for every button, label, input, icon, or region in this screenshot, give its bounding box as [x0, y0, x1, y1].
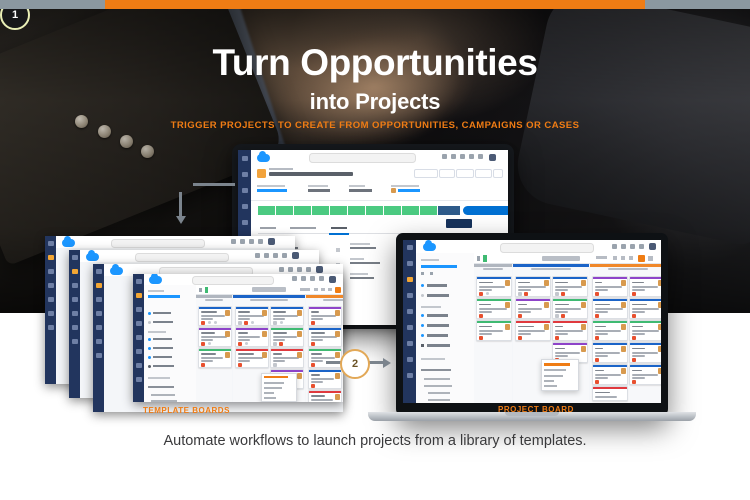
sidebar-item-dashboard[interactable] [427, 344, 450, 347]
rail-team-icon[interactable] [136, 335, 142, 340]
stage-step[interactable] [366, 206, 383, 215]
card-assignee-avatar[interactable] [544, 280, 549, 286]
card-action-icon[interactable] [214, 321, 217, 324]
sidebar-item-my-work[interactable] [153, 312, 171, 314]
sidebar-item-timesheet[interactable] [153, 321, 173, 323]
sidebar-item-initiatives[interactable] [153, 356, 172, 358]
board-search-input[interactable] [135, 253, 229, 262]
rail-settings-icon[interactable] [407, 325, 413, 330]
card-assignee-avatar[interactable] [505, 280, 510, 286]
favorites-icon[interactable] [442, 154, 447, 159]
card-assignee-avatar[interactable] [335, 352, 340, 358]
card-title [201, 353, 216, 355]
card-attachment-icon[interactable] [555, 314, 559, 318]
card-date [632, 355, 645, 357]
card-priority-badge [201, 321, 205, 325]
sidebar-expand-icon[interactable] [421, 272, 424, 275]
kanban-card[interactable] [270, 306, 304, 326]
project-board-search-input[interactable] [500, 243, 594, 253]
kanban-card[interactable] [592, 386, 628, 401]
board-search-input[interactable] [111, 239, 205, 248]
card-accent [271, 370, 303, 372]
setup-gear-icon[interactable] [273, 253, 278, 258]
card-priority-badge [595, 336, 599, 340]
clone-button[interactable] [475, 169, 492, 178]
apps-icon[interactable] [292, 276, 297, 281]
stage-step-closed[interactable] [438, 206, 460, 215]
kanban-card[interactable] [592, 276, 628, 297]
board-share-icon[interactable] [629, 256, 633, 260]
card-assignee-avatar[interactable] [297, 352, 302, 358]
card-assignee-avatar[interactable] [225, 310, 230, 316]
change-closed-stage-button[interactable] [463, 206, 508, 215]
card-assignee-avatar[interactable] [505, 324, 510, 330]
edit-button[interactable] [439, 169, 455, 178]
sidebar-bullet-icon [421, 294, 424, 297]
sidebar-section-all-projects[interactable] [421, 358, 445, 360]
card-assignee-avatar[interactable] [658, 346, 662, 352]
tab-activity[interactable] [260, 227, 276, 229]
rail-chart-icon[interactable] [407, 341, 413, 346]
setup-gear-icon[interactable] [249, 239, 254, 244]
card-assignee-avatar[interactable] [262, 310, 267, 316]
rail-team-icon[interactable] [407, 309, 413, 314]
card-assignee-avatar[interactable] [658, 368, 662, 374]
rail-home-icon[interactable] [242, 172, 248, 177]
rail-chart-icon[interactable] [48, 325, 54, 330]
kanban-card[interactable] [235, 348, 269, 368]
card-assignee-avatar[interactable] [544, 302, 549, 308]
opportunity-search-input[interactable] [309, 153, 416, 163]
sidebar-item-brand-project[interactable] [428, 399, 450, 401]
kanban-card[interactable] [235, 306, 269, 326]
user-avatar[interactable] [268, 238, 275, 245]
kanban-card[interactable] [308, 369, 342, 389]
board-status-indicator [205, 287, 208, 293]
rail-projects-icon[interactable] [72, 269, 78, 274]
sidebar-item-timesheet[interactable] [427, 294, 449, 297]
kanban-card[interactable] [308, 348, 342, 368]
board-sidebar[interactable] [144, 285, 197, 402]
rail-menu-icon[interactable] [48, 241, 54, 246]
rail-settings-icon[interactable] [96, 339, 102, 344]
card-assignee-avatar[interactable] [505, 302, 510, 308]
rail-menu-icon[interactable] [242, 156, 248, 161]
kanban-card[interactable] [552, 298, 588, 319]
board-collapse-icon[interactable] [199, 288, 202, 292]
card-assignee-avatar[interactable] [581, 302, 586, 308]
sidebar-dropdown-menu[interactable] [261, 373, 297, 402]
card-assignee-avatar[interactable] [335, 331, 340, 337]
rail-menu-icon[interactable] [96, 269, 102, 274]
board-nav-rail[interactable] [45, 236, 56, 384]
help-icon[interactable] [460, 154, 465, 159]
card-desc [201, 315, 225, 317]
kanban-card[interactable] [592, 320, 628, 341]
kanban-card[interactable] [629, 298, 661, 319]
field-account-name-value[interactable] [257, 189, 287, 192]
rail-home-icon[interactable] [96, 297, 102, 302]
kanban-column-backlog [474, 264, 512, 403]
rail-menu-icon[interactable] [407, 245, 413, 250]
card-priority-badge [238, 342, 242, 346]
sidebar-item-b2b-production[interactable] [424, 385, 452, 387]
template-board-window-front[interactable] [133, 274, 343, 402]
board-view-kanban-button[interactable] [638, 255, 645, 262]
card-assignee-avatar[interactable] [335, 394, 340, 400]
notifications-icon[interactable] [258, 239, 263, 244]
kanban-card[interactable] [552, 276, 588, 297]
card-accent [309, 328, 341, 330]
column-accent [474, 264, 512, 267]
board-filter-button[interactable] [300, 288, 310, 291]
board-star-icon[interactable] [613, 256, 617, 260]
card-assignee-avatar[interactable] [621, 280, 626, 286]
kanban-card[interactable] [592, 342, 628, 363]
card-attachment-icon[interactable] [273, 363, 277, 367]
dropdown-item-templates[interactable] [544, 363, 570, 366]
card-assignee-avatar[interactable] [581, 280, 586, 286]
card-desc [273, 315, 298, 317]
kanban-card[interactable] [552, 320, 588, 341]
user-avatar[interactable] [292, 252, 299, 259]
board-nav-rail[interactable] [133, 274, 144, 402]
kanban-card[interactable] [629, 320, 661, 341]
rail-team-icon[interactable] [48, 297, 54, 302]
board-nav-rail[interactable] [93, 264, 104, 412]
card-assignee-avatar[interactable] [262, 352, 267, 358]
dropdown-item-templates[interactable] [264, 376, 288, 378]
notifications-icon[interactable] [639, 244, 644, 249]
kanban-card[interactable] [198, 348, 232, 368]
stage-step[interactable] [258, 206, 275, 215]
detail-edit-pencil-icon[interactable] [336, 248, 340, 252]
apps-icon[interactable] [255, 253, 260, 258]
rail-settings-icon[interactable] [48, 311, 54, 316]
rail-home-icon[interactable] [48, 269, 54, 274]
card-accent [271, 349, 303, 351]
card-attachment-icon[interactable] [518, 292, 522, 296]
dropdown-item-move[interactable] [544, 380, 554, 382]
card-accent [593, 387, 627, 389]
sidebar-item-media-project[interactable] [428, 392, 450, 394]
sidebar-item-my-project[interactable] [153, 347, 173, 349]
sidebar-item-my-work[interactable] [427, 284, 447, 287]
kanban-card[interactable] [198, 327, 232, 347]
card-assignee-avatar[interactable] [544, 324, 549, 330]
card-title [479, 304, 491, 306]
card-attachment-icon[interactable] [555, 292, 559, 296]
sidebar-item-b2b-marketing[interactable] [424, 378, 450, 380]
help-icon[interactable] [288, 267, 293, 272]
card-assignee-avatar[interactable] [297, 373, 302, 379]
board-search-input[interactable] [192, 276, 274, 285]
card-priority-badge [311, 321, 315, 325]
kanban-column-sprint-progress [306, 295, 343, 402]
sidebar-bullet-icon [148, 338, 151, 341]
card-assignee-avatar[interactable] [658, 280, 662, 286]
rail-home-icon[interactable] [407, 261, 413, 266]
card-assignee-avatar[interactable] [581, 346, 586, 352]
card-assignee-avatar[interactable] [335, 310, 340, 316]
dropdown-item-new-project[interactable] [544, 375, 563, 377]
sidebar-section-my-assignments[interactable] [421, 369, 451, 371]
setup-gear-icon[interactable] [297, 267, 302, 272]
help-icon[interactable] [621, 244, 626, 249]
kanban-card[interactable] [270, 348, 304, 368]
follow-button[interactable] [414, 169, 438, 178]
card-accent [593, 343, 627, 345]
user-avatar[interactable] [329, 276, 336, 283]
help-icon[interactable] [301, 276, 306, 281]
column-header [476, 268, 510, 272]
card-priority-badge [632, 358, 636, 362]
rail-reports-icon[interactable] [407, 293, 413, 298]
project-sidebar-dropdown-menu[interactable] [541, 359, 579, 391]
rail-projects-icon[interactable] [96, 283, 102, 288]
kanban-card[interactable] [308, 327, 342, 347]
detail-field-value [350, 247, 376, 249]
dropdown-item-delete[interactable] [264, 397, 276, 399]
card-date [518, 333, 531, 335]
card-accent [553, 343, 587, 345]
card-desc [479, 286, 505, 288]
card-title [479, 282, 493, 284]
card-assignee-avatar[interactable] [297, 310, 302, 316]
delete-button[interactable] [456, 169, 474, 178]
rail-home-icon[interactable] [72, 283, 78, 288]
user-avatar[interactable] [649, 243, 656, 250]
sidebar-section-all-projects[interactable] [148, 377, 170, 379]
card-action-icon[interactable] [245, 342, 248, 345]
card-assignee-avatar[interactable] [335, 373, 340, 379]
card-assignee-avatar[interactable] [621, 346, 626, 352]
kanban-card[interactable] [515, 320, 551, 341]
stage-step[interactable] [384, 206, 401, 215]
stage-step[interactable] [294, 206, 311, 215]
kanban-card[interactable] [270, 327, 304, 347]
help-icon[interactable] [240, 239, 245, 244]
kanban-card[interactable] [476, 276, 512, 297]
stage-step[interactable] [276, 206, 293, 215]
sidebar-section-my-assignments[interactable] [148, 386, 174, 388]
card-assignee-avatar[interactable] [658, 302, 662, 308]
rail-add-icon[interactable] [242, 204, 248, 209]
card-action-icon[interactable] [486, 292, 489, 295]
apps-icon[interactable] [451, 154, 456, 159]
card-desc [518, 308, 542, 310]
rail-projects-icon[interactable] [48, 255, 54, 260]
rail-reports-icon[interactable] [48, 283, 54, 288]
notifications-icon[interactable] [282, 253, 287, 258]
stage-step[interactable] [402, 206, 419, 215]
card-title [479, 326, 492, 328]
card-attachment-icon[interactable] [273, 321, 277, 325]
board-clock-icon[interactable] [621, 256, 625, 260]
rail-settings-icon[interactable] [136, 349, 142, 354]
board-view-kanban-button[interactable] [335, 287, 341, 293]
card-action-icon[interactable] [280, 321, 283, 324]
sidebar-item-initiatives[interactable] [427, 334, 448, 337]
sidebar-item-b2b-marketing[interactable] [151, 394, 175, 396]
kanban-card[interactable] [235, 327, 269, 347]
card-assignee-avatar[interactable] [658, 324, 662, 330]
kanban-card[interactable] [629, 364, 661, 385]
card-assignee-avatar[interactable] [225, 352, 230, 358]
rail-chart-icon[interactable] [136, 363, 142, 368]
card-priority-badge [479, 292, 483, 296]
setup-gear-icon[interactable] [469, 154, 474, 159]
board-title [252, 287, 286, 292]
notifications-icon[interactable] [478, 154, 483, 159]
opportunity-stage-path[interactable] [258, 206, 460, 215]
salesforce-logo-icon [110, 267, 123, 275]
stage-tooltip [446, 219, 472, 228]
board-clock-icon[interactable] [321, 288, 325, 292]
rail-calendar-icon[interactable] [407, 373, 413, 378]
project-board-global-header [416, 240, 661, 254]
kanban-card[interactable] [629, 276, 661, 297]
card-assignee-avatar[interactable] [581, 324, 586, 330]
rail-projects-icon[interactable] [407, 277, 413, 282]
stage-step[interactable] [348, 206, 365, 215]
sidebar-item-my-project[interactable] [427, 324, 449, 327]
sidebar-bullet-icon [148, 356, 151, 359]
sidebar-item-portfolio[interactable] [153, 338, 172, 340]
field-owner-value[interactable] [398, 189, 420, 192]
apps-icon[interactable] [612, 244, 617, 249]
card-assignee-avatar[interactable] [297, 331, 302, 337]
sidebar-add-icon[interactable] [430, 272, 433, 275]
kanban-card[interactable] [515, 276, 551, 297]
stage-step[interactable] [312, 206, 329, 215]
kanban-card[interactable] [308, 306, 342, 326]
rail-team-icon[interactable] [72, 311, 78, 316]
board-nav-rail[interactable] [69, 250, 80, 398]
card-assignee-avatar[interactable] [621, 302, 626, 308]
card-action-icon[interactable] [208, 342, 211, 345]
rail-chart-icon[interactable] [72, 339, 78, 344]
board-share-icon[interactable] [328, 288, 332, 292]
setup-gear-icon[interactable] [630, 244, 635, 249]
kanban-card[interactable] [476, 298, 512, 319]
sidebar-item-b2b-production[interactable] [151, 400, 177, 402]
salesforce-logo-icon [423, 243, 436, 251]
board-filter-button[interactable] [596, 256, 607, 259]
sidebar-item-dashboard[interactable] [153, 365, 174, 367]
stage-step[interactable] [420, 206, 437, 215]
rail-team-icon[interactable] [96, 325, 102, 330]
card-assignee-avatar[interactable] [621, 368, 626, 374]
card-date [632, 377, 645, 379]
rail-home-icon[interactable] [136, 307, 142, 312]
card-desc [518, 286, 546, 288]
project-board-window[interactable] [403, 240, 661, 403]
rail-reports-icon[interactable] [136, 321, 142, 326]
card-title [238, 353, 254, 355]
card-desc [238, 336, 260, 338]
rail-menu-icon[interactable] [72, 255, 78, 260]
tab-collaborate[interactable] [290, 227, 316, 229]
card-action-icon[interactable] [251, 321, 254, 324]
kanban-card[interactable] [592, 298, 628, 319]
user-avatar[interactable] [316, 266, 323, 273]
rail-dashboard-icon[interactable] [407, 357, 413, 362]
card-priority-badge [561, 292, 565, 296]
dropdown-item-copy-project[interactable] [544, 369, 566, 371]
kanban-card[interactable] [629, 342, 661, 363]
board-star-icon[interactable] [314, 288, 318, 292]
card-desc [595, 352, 620, 354]
card-date [479, 289, 492, 291]
help-icon[interactable] [264, 253, 269, 258]
card-date [273, 360, 285, 362]
rail-reports-icon[interactable] [96, 311, 102, 316]
card-accent [630, 299, 661, 301]
apps-icon[interactable] [231, 239, 236, 244]
notifications-icon[interactable] [319, 276, 324, 281]
board-view-grid-button[interactable] [648, 256, 653, 261]
salesforce-logo-icon [86, 253, 99, 261]
kanban-card[interactable] [515, 298, 551, 319]
card-priority-badge [555, 336, 559, 340]
record-more-actions-button[interactable] [493, 169, 503, 178]
rail-dashboard-icon[interactable] [136, 377, 142, 382]
card-desc [238, 357, 263, 359]
rail-menu-icon[interactable] [136, 279, 142, 284]
sidebar-item-portfolio[interactable] [427, 314, 448, 317]
dropdown-item-move[interactable] [264, 392, 274, 394]
apps-icon[interactable] [279, 267, 284, 272]
notifications-icon[interactable] [306, 267, 311, 272]
card-action-icon[interactable] [208, 321, 211, 324]
dropdown-item-copy-project[interactable] [264, 382, 284, 384]
rail-chart-icon[interactable] [96, 353, 102, 358]
card-assignee-avatar[interactable] [225, 331, 230, 337]
card-desc [201, 336, 227, 338]
card-title [632, 304, 647, 306]
rail-briefcase-icon[interactable] [242, 220, 248, 225]
kanban-card[interactable] [476, 320, 512, 341]
sidebar-section-recent [421, 259, 439, 261]
kanban-card[interactable] [198, 306, 232, 326]
card-priority-badge [632, 380, 636, 384]
kanban-card[interactable] [308, 390, 342, 402]
kanban-card[interactable] [592, 364, 628, 385]
project-board-sidebar[interactable] [416, 253, 475, 403]
card-assignee-avatar[interactable] [262, 331, 267, 337]
card-attachment-icon[interactable] [238, 321, 242, 325]
board-collapse-icon[interactable] [477, 256, 480, 261]
dropdown-item-delete[interactable] [544, 385, 557, 387]
tab-details[interactable] [331, 227, 347, 229]
rail-projects-icon[interactable] [136, 293, 142, 298]
rail-settings-icon[interactable] [72, 325, 78, 330]
rail-reports-icon[interactable] [242, 188, 248, 193]
sidebar-item-tony-webinar[interactable] [148, 295, 180, 298]
card-attachment-icon[interactable] [273, 342, 277, 346]
card-title [518, 282, 530, 284]
sidebar-item-tony-webinar[interactable] [421, 265, 457, 268]
dropdown-item-new-project[interactable] [264, 387, 282, 389]
stage-step[interactable] [330, 206, 347, 215]
card-accent [630, 365, 661, 367]
setup-gear-icon[interactable] [310, 276, 315, 281]
rail-reports-icon[interactable] [72, 297, 78, 302]
project-board-nav-rail[interactable] [403, 240, 416, 403]
user-avatar[interactable] [489, 154, 496, 161]
card-assignee-avatar[interactable] [621, 324, 626, 330]
